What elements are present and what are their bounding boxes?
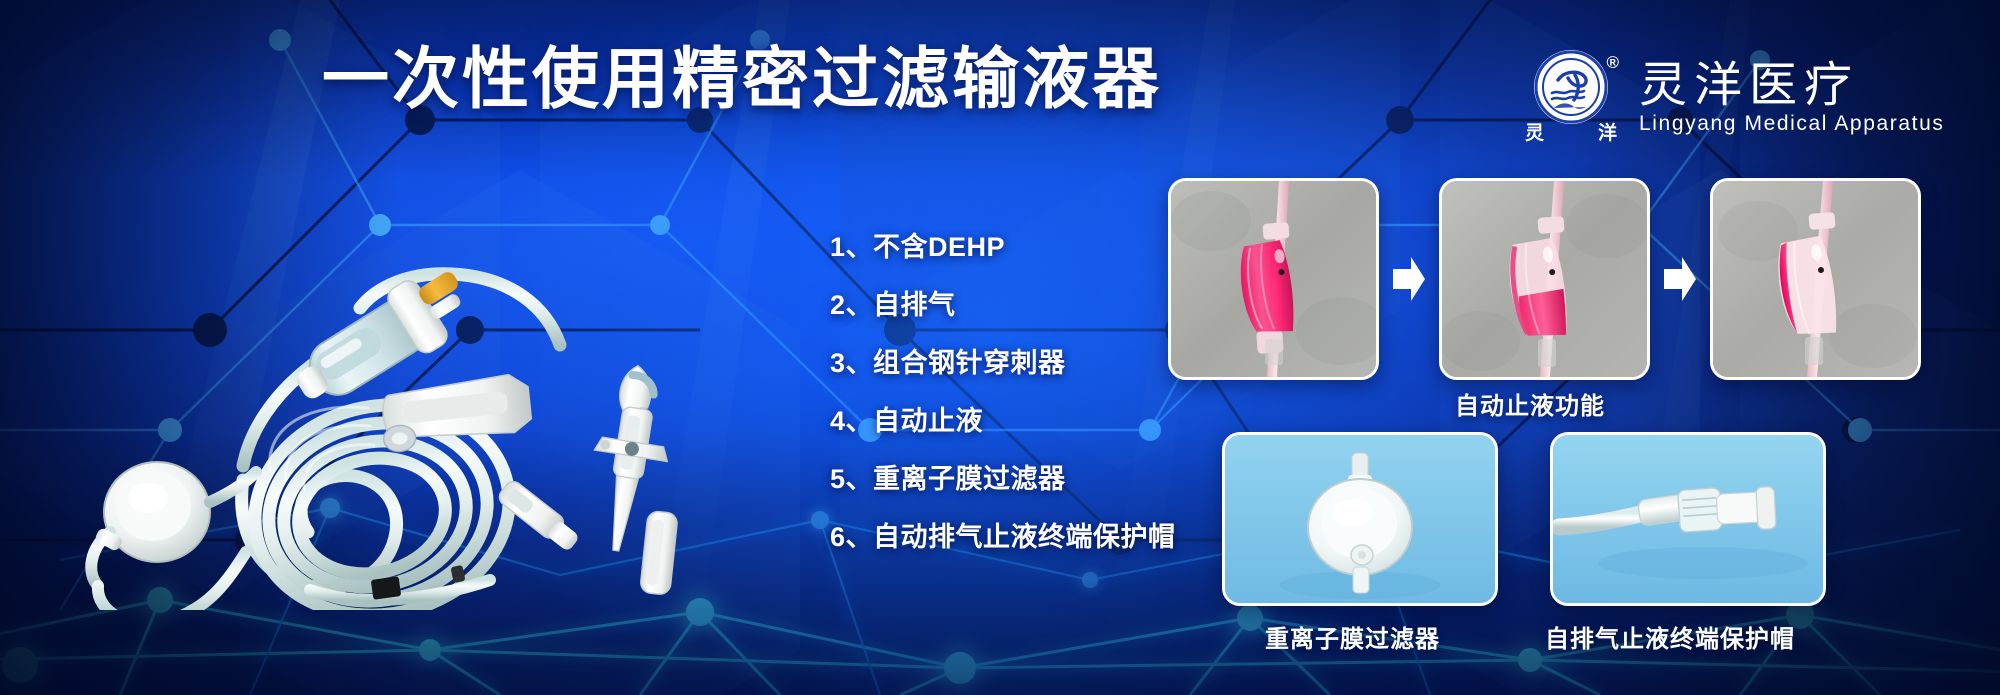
detail-caption-cap: 自排气止液终端保护帽 [1545,628,1795,652]
logo-wordmark: 灵洋医疗 Lingyang Medical Apparatus [1639,61,1944,136]
logo-char-right: 洋 [1598,124,1617,143]
hero-product-image [60,180,780,610]
auto-stop-sequence [1168,178,1921,380]
logo-emblem: ® 灵 洋 [1525,50,1621,146]
feature-list: 1、不含DEHP 2、自排气 3、组合钢针穿刺器 4、自动止液 5、重离子膜过滤… [830,218,1176,566]
sequence-photo-3 [1710,178,1921,380]
company-logo[interactable]: ® 灵 洋 灵洋医疗 Lingyang Medical Apparatus [1525,50,1944,146]
company-name-en: Lingyang Medical Apparatus [1639,112,1944,135]
feature-item-4: 4、自动止液 [830,392,1176,450]
logo-mark-characters: 灵 洋 [1525,124,1617,143]
feature-item-3: 3、组合钢针穿刺器 [830,334,1176,392]
detail-photo-cap [1550,432,1826,606]
logo-char-left: 灵 [1525,124,1544,143]
registered-trademark-icon: ® [1606,54,1619,71]
sequence-photo-2 [1439,178,1650,380]
feature-item-1: 1、不含DEHP [830,218,1176,276]
product-banner: 一次性使用精密过滤输液器 ® 灵 洋 灵洋医疗 [0,0,2000,695]
detail-photo-filter [1222,432,1498,606]
sequence-photo-1 [1168,178,1379,380]
page-title: 一次性使用精密过滤输液器 [322,46,1162,113]
sequence-arrow-1 [1391,255,1427,303]
logo-circle-icon [1534,50,1608,124]
sequence-arrow-2 [1662,255,1698,303]
feature-item-2: 2、自排气 [830,276,1176,334]
company-name-cn: 灵洋医疗 [1639,61,1944,112]
sequence-caption: 自动止液功能 [1455,395,1605,419]
detail-caption-filter: 重离子膜过滤器 [1265,628,1440,652]
feature-item-6: 6、自动排气止液终端保护帽 [830,508,1176,566]
feature-item-5: 5、重离子膜过滤器 [830,450,1176,508]
detail-card-row [1222,432,1826,606]
